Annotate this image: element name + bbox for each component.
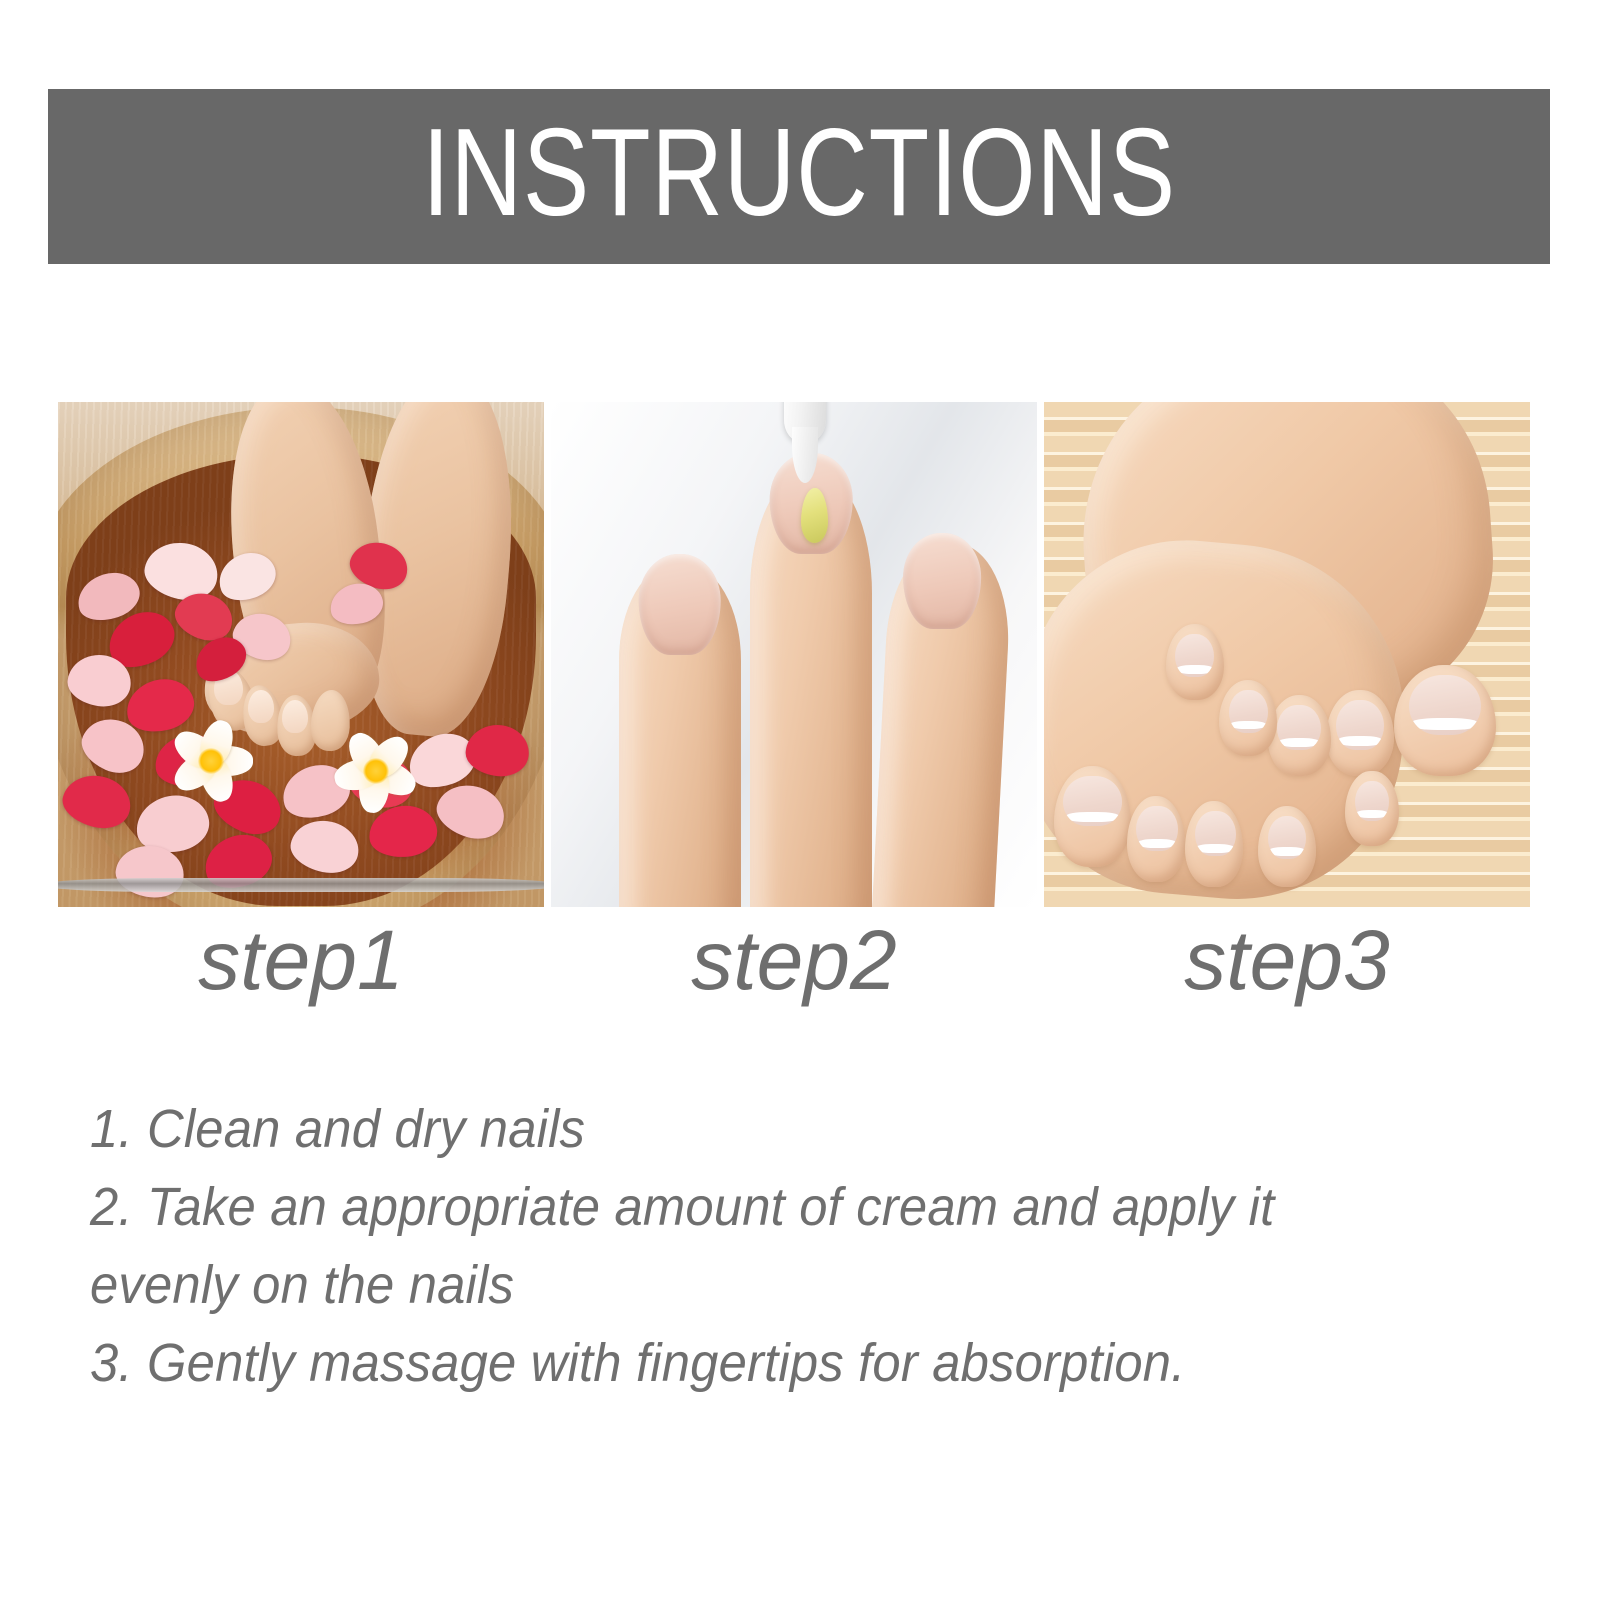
instruction-item-3: 3. Gently massage with fingertips for ab… xyxy=(90,1324,1397,1402)
index-fingernail xyxy=(638,554,721,655)
toenail xyxy=(1136,806,1177,851)
step1-image xyxy=(58,402,544,907)
step2-label: step2 xyxy=(551,915,1037,1005)
step1-label: step1 xyxy=(58,915,544,1005)
instruction-list: 1. Clean and dry nails 2. Take an approp… xyxy=(90,1090,1480,1402)
instruction-item-2: 2. Take an appropriate amount of cream a… xyxy=(90,1168,1397,1324)
instructions-page: INSTRUCTIONS xyxy=(0,0,1600,1600)
header-bar: INSTRUCTIONS xyxy=(48,89,1550,264)
step3-label: step3 xyxy=(1044,915,1530,1005)
step-labels-row: step1 step2 step3 xyxy=(58,915,1530,1005)
toenail xyxy=(1175,634,1214,677)
tub-metal-band xyxy=(58,878,544,892)
plumeria-flower xyxy=(165,715,257,807)
toenail xyxy=(1229,690,1268,733)
toenail xyxy=(1409,675,1482,736)
toenail xyxy=(1195,811,1236,856)
step2-image xyxy=(551,402,1037,907)
toenail xyxy=(1268,816,1307,859)
step-images-row xyxy=(58,402,1530,907)
page-title: INSTRUCTIONS xyxy=(422,111,1176,243)
toenail xyxy=(1277,705,1321,750)
toenail-3 xyxy=(282,700,309,733)
step3-image xyxy=(1044,402,1530,907)
toenail xyxy=(1063,776,1121,827)
plumeria-flower xyxy=(330,725,422,817)
instruction-item-1: 1. Clean and dry nails xyxy=(90,1090,1397,1168)
toenail xyxy=(1355,781,1389,821)
toenail xyxy=(1336,700,1385,751)
ring-fingernail xyxy=(903,533,981,629)
